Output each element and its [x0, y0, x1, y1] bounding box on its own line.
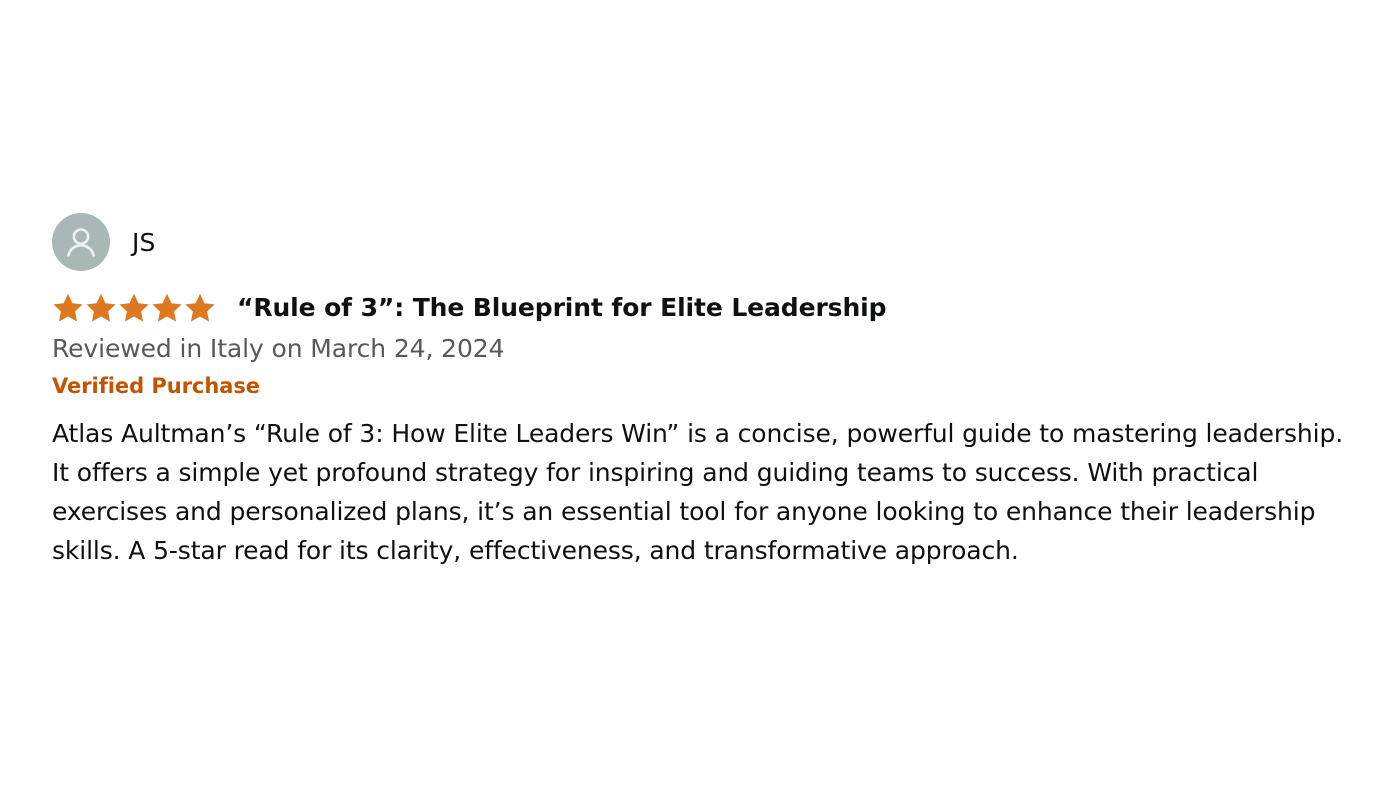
- user-avatar-icon: [61, 222, 101, 262]
- star-filled-icon: [118, 292, 150, 323]
- review-title[interactable]: “Rule of 3”: The Blueprint for Elite Lea…: [237, 295, 886, 320]
- review-rating-row: “Rule of 3”: The Blueprint for Elite Lea…: [52, 292, 1372, 322]
- star-filled-icon: [52, 292, 84, 323]
- star-filled-icon: [85, 292, 117, 323]
- review-author-row: JS: [52, 212, 1372, 272]
- star-rating[interactable]: [52, 292, 216, 323]
- star-filled-icon: [184, 292, 216, 323]
- review-body-text: Atlas Aultman’s “Rule of 3: How Elite Le…: [52, 414, 1367, 570]
- review-meta: Reviewed in Italy on March 24, 2024: [52, 336, 1372, 362]
- avatar[interactable]: [52, 213, 110, 271]
- verified-purchase-badge: Verified Purchase: [52, 375, 1372, 397]
- star-filled-icon: [151, 292, 183, 323]
- customer-review: JS: [52, 212, 1372, 570]
- review-author-name: JS: [132, 230, 155, 255]
